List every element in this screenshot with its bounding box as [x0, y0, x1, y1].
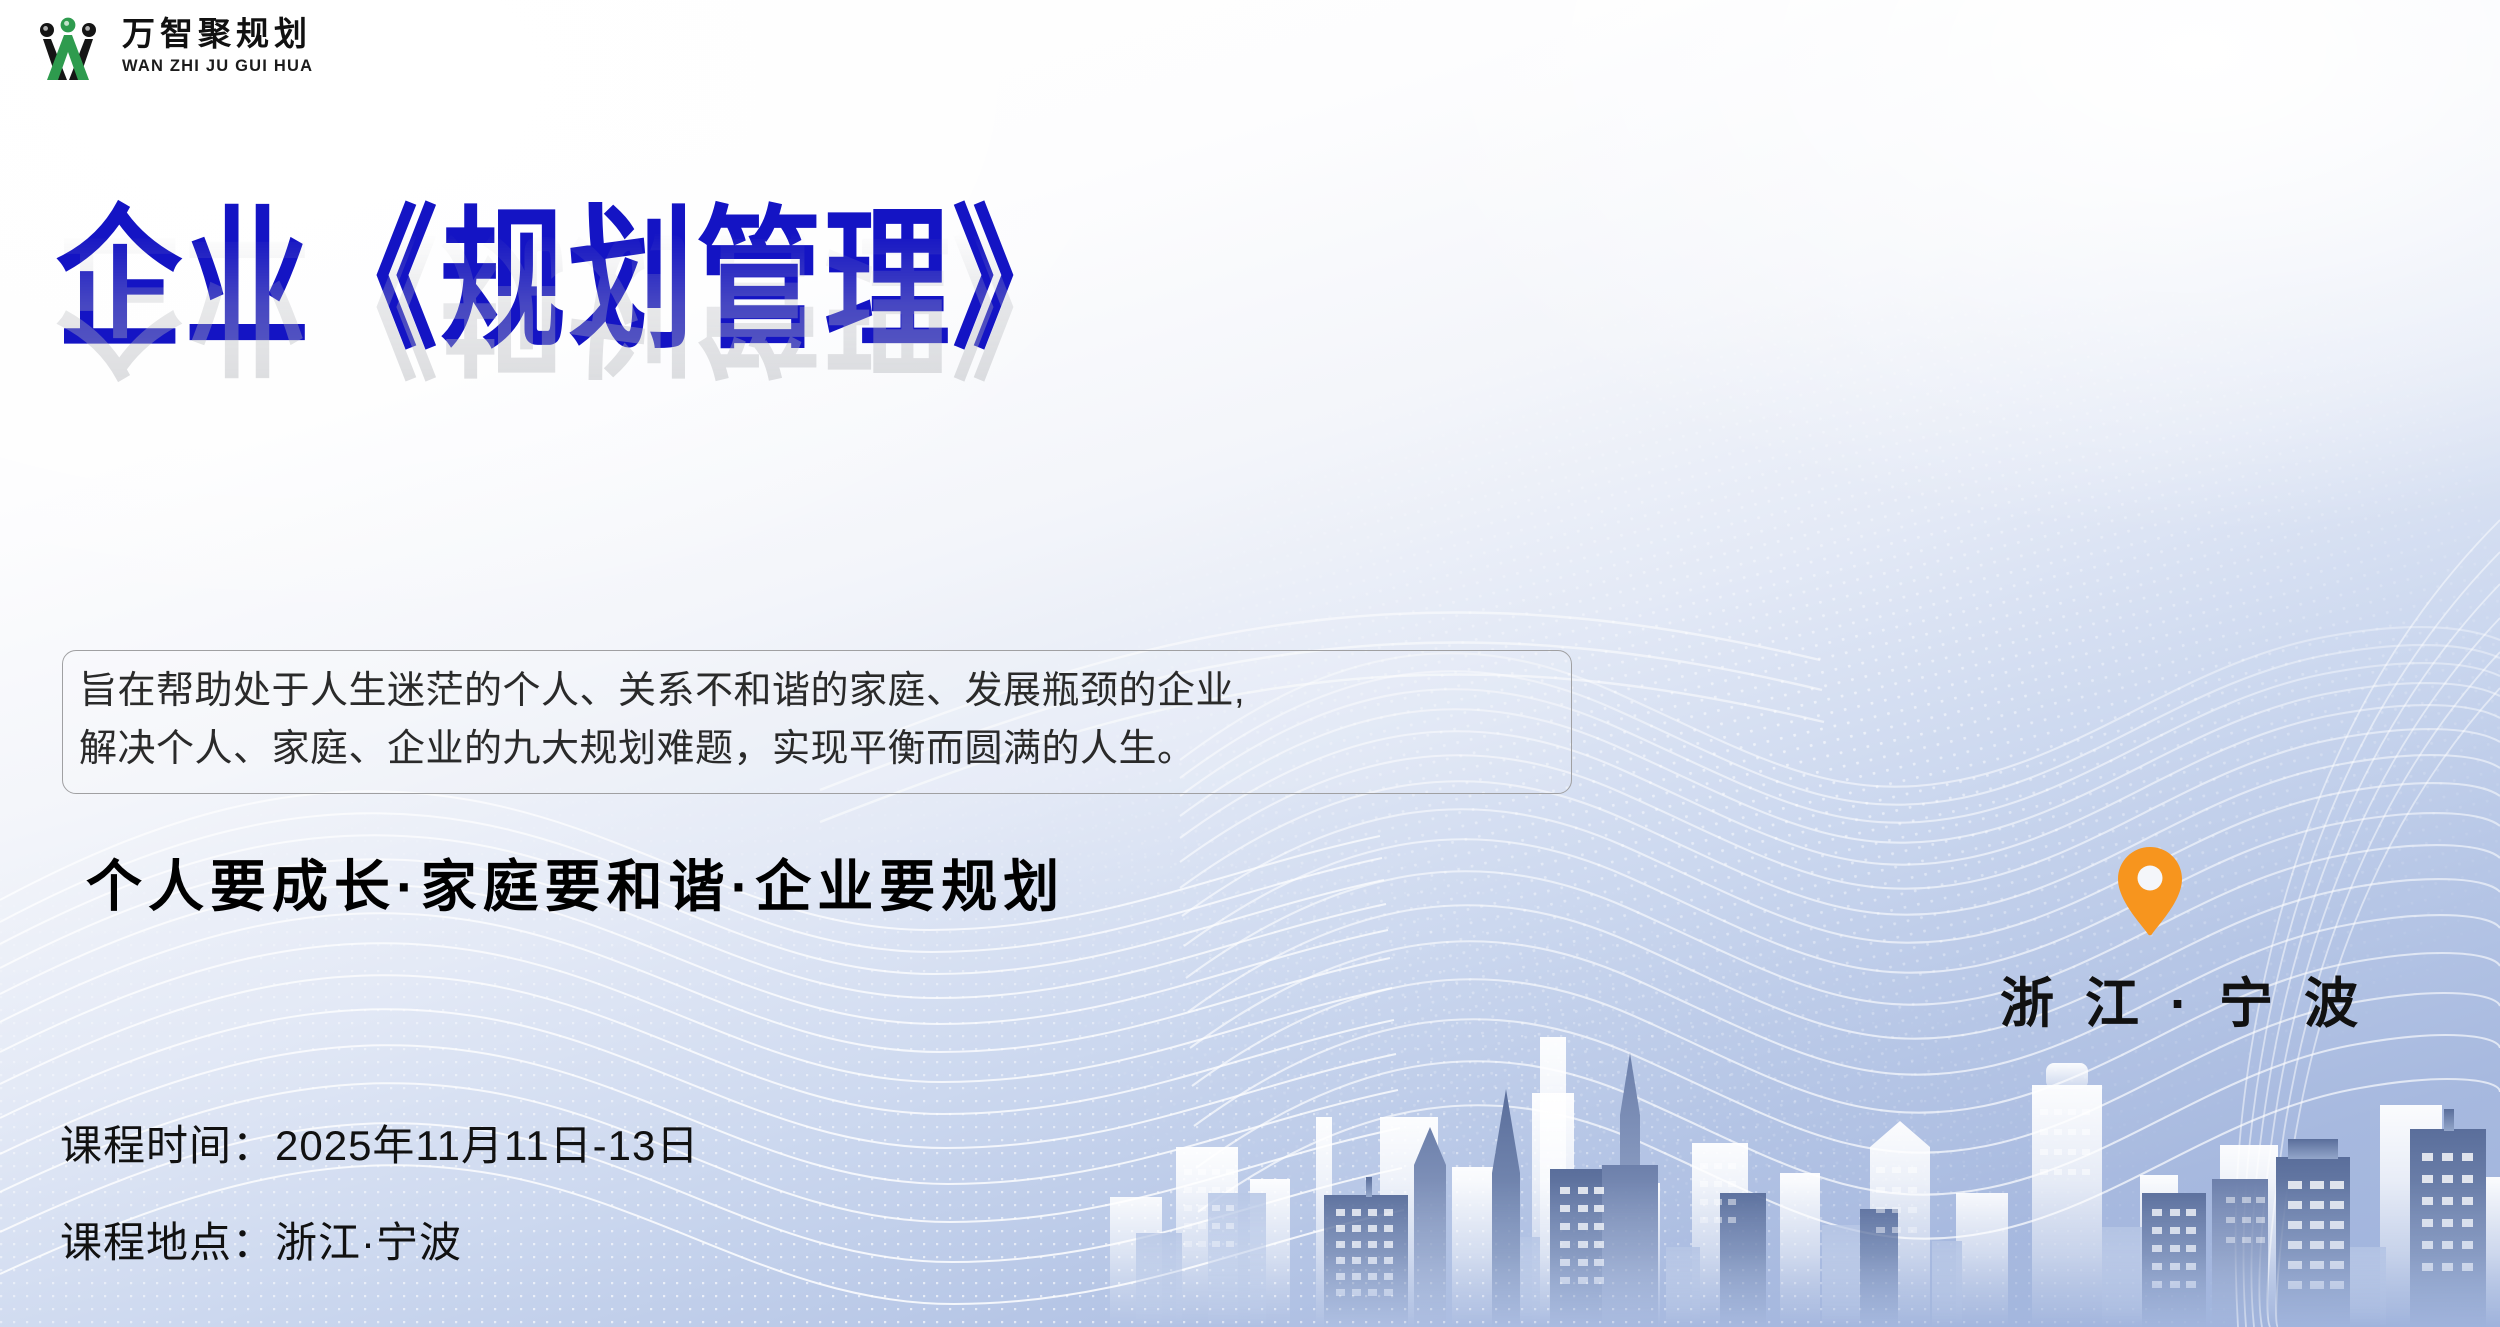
brand-logo: 万智聚规划 WAN ZHI JU GUI HUA [30, 14, 313, 80]
course-time: 课程时间：2025年11月11日-13日 [60, 1112, 699, 1173]
three-people-logo-icon [30, 14, 106, 80]
city-skyline [1080, 997, 2500, 1327]
location-block: 浙 江 · 宁 波 [2000, 845, 2300, 1038]
description-line-1: 旨在帮助处于人生迷茫的个人、关系不和谐的家庭、发展瓶颈的企业, [79, 663, 1555, 721]
map-pin-icon [2115, 845, 2185, 937]
page-title-reflection: 企业《规划管理》 [56, 218, 1080, 384]
course-place: 课程地点：浙江·宁波 [60, 1209, 699, 1270]
description-line-2: 解决个人、家庭、企业的九大规划难题，实现平衡而圆满的人生。 [79, 721, 1555, 779]
hero-title-block: 企业《规划管理》 企业《规划管理》 [56, 198, 1256, 334]
course-info: 课程时间：2025年11月11日-13日 课程地点：浙江·宁波 [60, 1112, 699, 1306]
city-label: 浙 江 · 宁 波 [2000, 959, 2300, 1038]
description-box: 旨在帮助处于人生迷茫的个人、关系不和谐的家庭、发展瓶颈的企业, 解决个人、家庭、… [62, 650, 1572, 794]
brand-name-cn: 万智聚规划 [122, 19, 313, 52]
slogan-text: 个人要成长·家庭要和谐·企业要规划 [86, 842, 1065, 923]
poster-canvas: 万智聚规划 WAN ZHI JU GUI HUA 企业《规划管理》 企业《规划管… [0, 0, 2500, 1327]
brand-text: 万智聚规划 WAN ZHI JU GUI HUA [122, 19, 313, 75]
brand-name-en: WAN ZHI JU GUI HUA [122, 58, 313, 75]
